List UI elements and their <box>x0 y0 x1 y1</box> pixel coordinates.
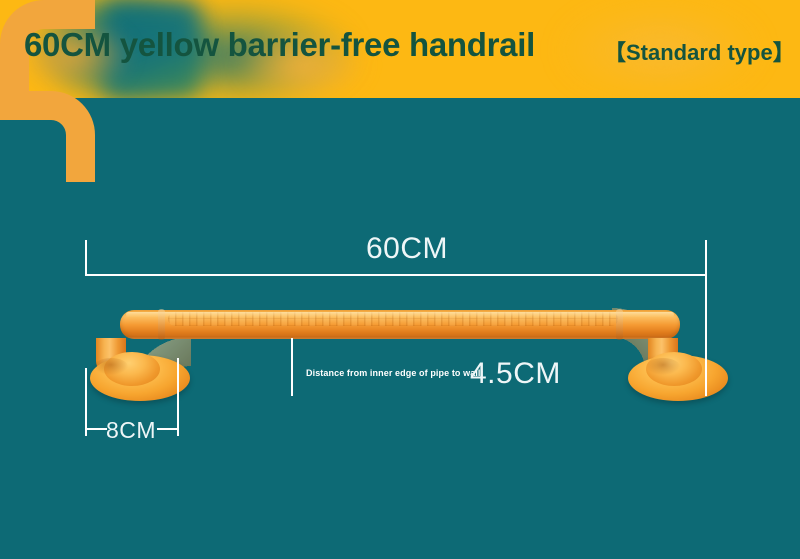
flange-label: 8CM <box>106 417 156 444</box>
right-elbow <box>0 91 95 182</box>
flange-extension-line-right <box>177 358 179 436</box>
wall-reference-line <box>705 274 707 396</box>
handrail-illustration <box>0 0 800 559</box>
grip-highlight <box>126 312 674 317</box>
wall-offset-note: Distance from inner edge of pipe to wall… <box>306 368 484 378</box>
product-infographic: 60CM yellow barrier-free handrail 【Stand… <box>0 0 800 559</box>
flange-extension-line-left <box>85 368 87 436</box>
page-title: 60CM yellow barrier-free handrail <box>24 26 535 64</box>
flange-dimension-line-left <box>85 428 107 430</box>
right-hub-shadow-ring <box>646 358 680 375</box>
flange-dimension-line-right <box>157 428 179 430</box>
left-collar-seam <box>158 309 165 340</box>
pipe-inner-edge-line <box>291 338 293 396</box>
type-badge: 【Standard type】 <box>604 35 795 67</box>
left-hub-shadow-ring <box>94 358 128 375</box>
wall-offset-label: 4.5CM <box>470 357 561 391</box>
right-collar-seam <box>616 309 623 340</box>
